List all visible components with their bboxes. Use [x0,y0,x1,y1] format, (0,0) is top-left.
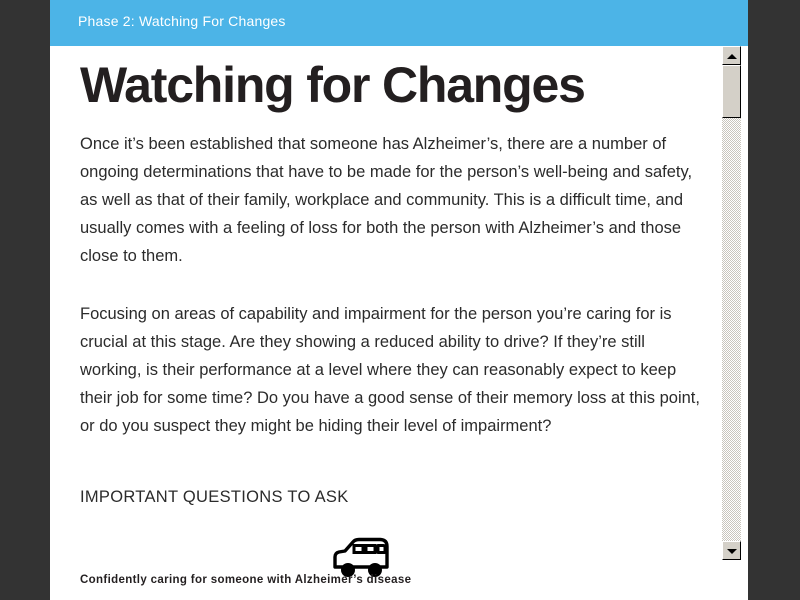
scroll-up-icon [727,54,737,59]
page-title: Watching for Changes [80,46,702,112]
phase-banner-title: Phase 2: Watching For Changes [78,13,286,29]
footer-strapline: Confidently caring for someone with Alzh… [80,574,411,586]
scroll-up-button[interactable] [722,46,741,65]
document-body: Watching for Changes Once it’s been esta… [80,46,702,507]
scroll-down-button[interactable] [722,541,741,560]
scrollbar-track[interactable] [722,65,741,541]
scrollbar-thumb[interactable] [722,65,741,118]
vertical-scrollbar[interactable] [722,46,742,560]
section-subheading: IMPORTANT QUESTIONS TO ASK [80,440,702,507]
app-window: Phase 2: Watching For Changes Watching f… [0,0,800,600]
body-paragraph-1: Once it’s been established that someone … [80,112,702,270]
scroll-down-icon [727,549,737,554]
document-page: Watching for Changes Once it’s been esta… [50,46,748,600]
body-paragraph-2: Focusing on areas of capability and impa… [80,270,702,440]
phase-banner: Phase 2: Watching For Changes [50,0,748,46]
